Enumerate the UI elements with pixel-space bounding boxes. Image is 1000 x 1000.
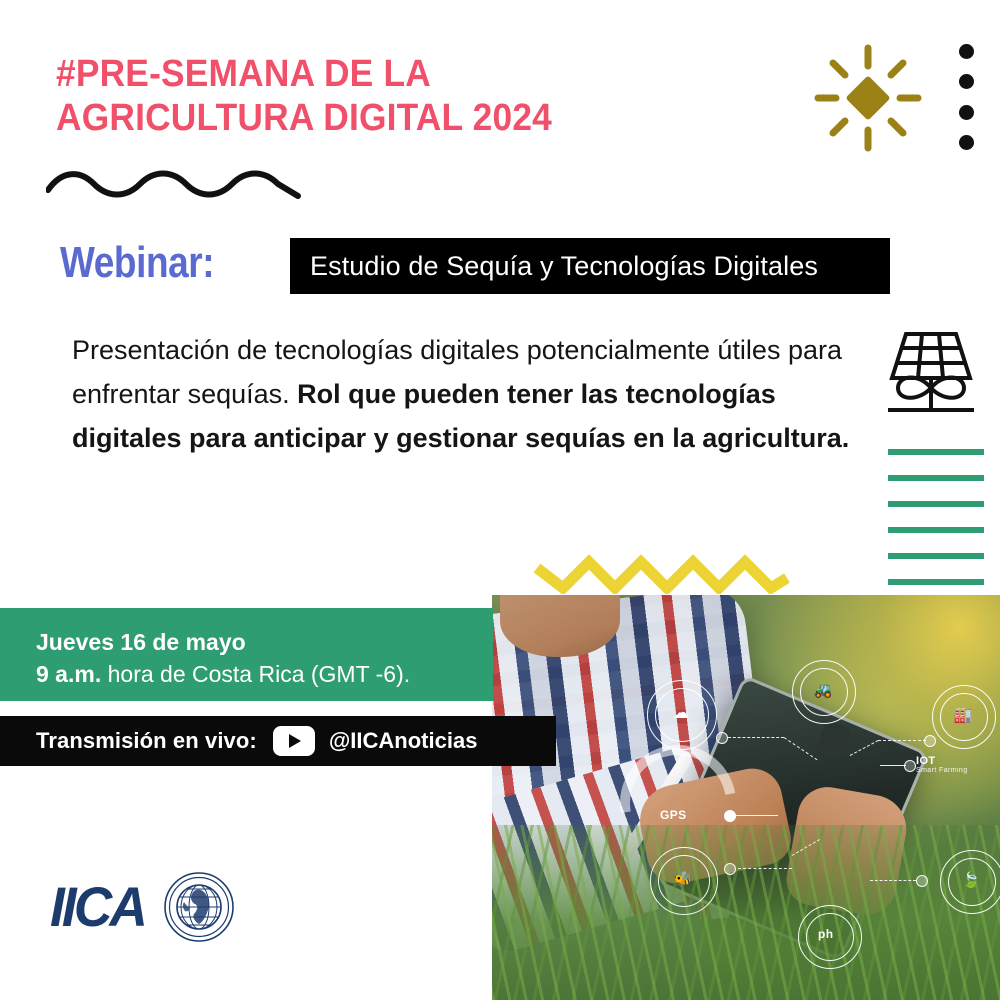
- stripe: [888, 475, 984, 481]
- solar-panel-plant-icon: [878, 326, 982, 418]
- dots-decoration: [957, 44, 975, 150]
- tractor-icon: 🚜: [810, 683, 836, 698]
- stripe: [888, 449, 984, 455]
- gps-tag: GPS: [660, 808, 687, 822]
- hud-connector: [870, 880, 916, 881]
- event-timezone: hora de Costa Rica (GMT -6).: [101, 661, 410, 687]
- iot-hud-overlay: ☁ 🚜 🏭 🐝 🍃 ph: [492, 595, 1000, 1000]
- stripe: [888, 579, 984, 585]
- event-date: Jueves 16 de mayo: [36, 626, 493, 658]
- iot-tag: IOT Smart Farming: [916, 755, 968, 775]
- ladybug-icon: 🐝: [670, 872, 696, 887]
- hud-node: [724, 863, 736, 875]
- livestream-label: Transmisión en vivo:: [36, 728, 257, 754]
- windmill-farm-icon: 🏭: [950, 708, 976, 723]
- hud-node: [924, 735, 936, 747]
- promo-poster: #PRE-SEMANA DE LA AGRICULTURA DIGITAL 20…: [0, 0, 1000, 1000]
- wavy-divider-icon: [46, 166, 302, 200]
- webinar-label: Webinar:: [60, 232, 214, 294]
- stripe: [888, 553, 984, 559]
- headline-line-1: #PRE-SEMANA DE LA: [56, 52, 540, 96]
- hud-connector: [784, 737, 818, 760]
- webinar-row: Webinar: Estudio de Sequía y Tecnologías…: [60, 232, 940, 302]
- hud-connector: [728, 737, 784, 738]
- headline-line-2: AGRICULTURA DIGITAL 2024: [56, 96, 540, 140]
- hud-connector: [880, 765, 906, 766]
- ph-meter-icon: ph: [818, 927, 833, 941]
- play-triangle-icon: [289, 734, 301, 748]
- hud-connector: [792, 839, 820, 856]
- hud-node: [724, 810, 736, 822]
- cloud-weather-icon: ☁: [667, 704, 695, 721]
- dot: [959, 74, 974, 89]
- title-banner: Estudio de Sequía y Tecnologías Digitale…: [290, 238, 890, 294]
- youtube-handle[interactable]: @IICAnoticias: [329, 728, 478, 754]
- hero-photo: ☁ 🚜 🏭 🐝 🍃 ph: [492, 595, 1000, 1000]
- hud-node: [716, 732, 728, 744]
- sun-burst-icon: [812, 42, 924, 154]
- dot: [959, 135, 974, 150]
- body-description: Presentación de tecnologías digitales po…: [72, 328, 862, 460]
- stripe: [888, 527, 984, 533]
- green-stripes-decoration: [888, 449, 984, 611]
- iica-wordmark: IICA: [50, 878, 145, 936]
- hud-connector: [850, 740, 879, 756]
- webinar-title: Estudio de Sequía y Tecnologías Digitale…: [310, 251, 818, 282]
- hud-connector: [738, 868, 792, 869]
- hud-connector: [736, 815, 778, 816]
- iica-globe-seal-icon: [164, 872, 234, 942]
- dot: [959, 44, 974, 59]
- page-title: #PRE-SEMANA DE LA AGRICULTURA DIGITAL 20…: [56, 52, 540, 140]
- hud-connector: [878, 740, 926, 741]
- stripe: [888, 501, 984, 507]
- livestream-bar: Transmisión en vivo: @IICAnoticias: [0, 716, 556, 766]
- iica-logo: IICA: [50, 872, 236, 946]
- hud-node: [916, 875, 928, 887]
- youtube-icon[interactable]: [273, 726, 315, 756]
- hud-node: [904, 760, 916, 772]
- zigzag-decoration-icon: [533, 548, 791, 594]
- event-time-value: 9 a.m.: [36, 661, 101, 687]
- date-info-box: Jueves 16 de mayo 9 a.m. hora de Costa R…: [0, 608, 493, 701]
- event-time: 9 a.m. hora de Costa Rica (GMT -6).: [36, 658, 493, 690]
- dot: [959, 105, 974, 120]
- seed-icon: 🍃: [958, 873, 984, 888]
